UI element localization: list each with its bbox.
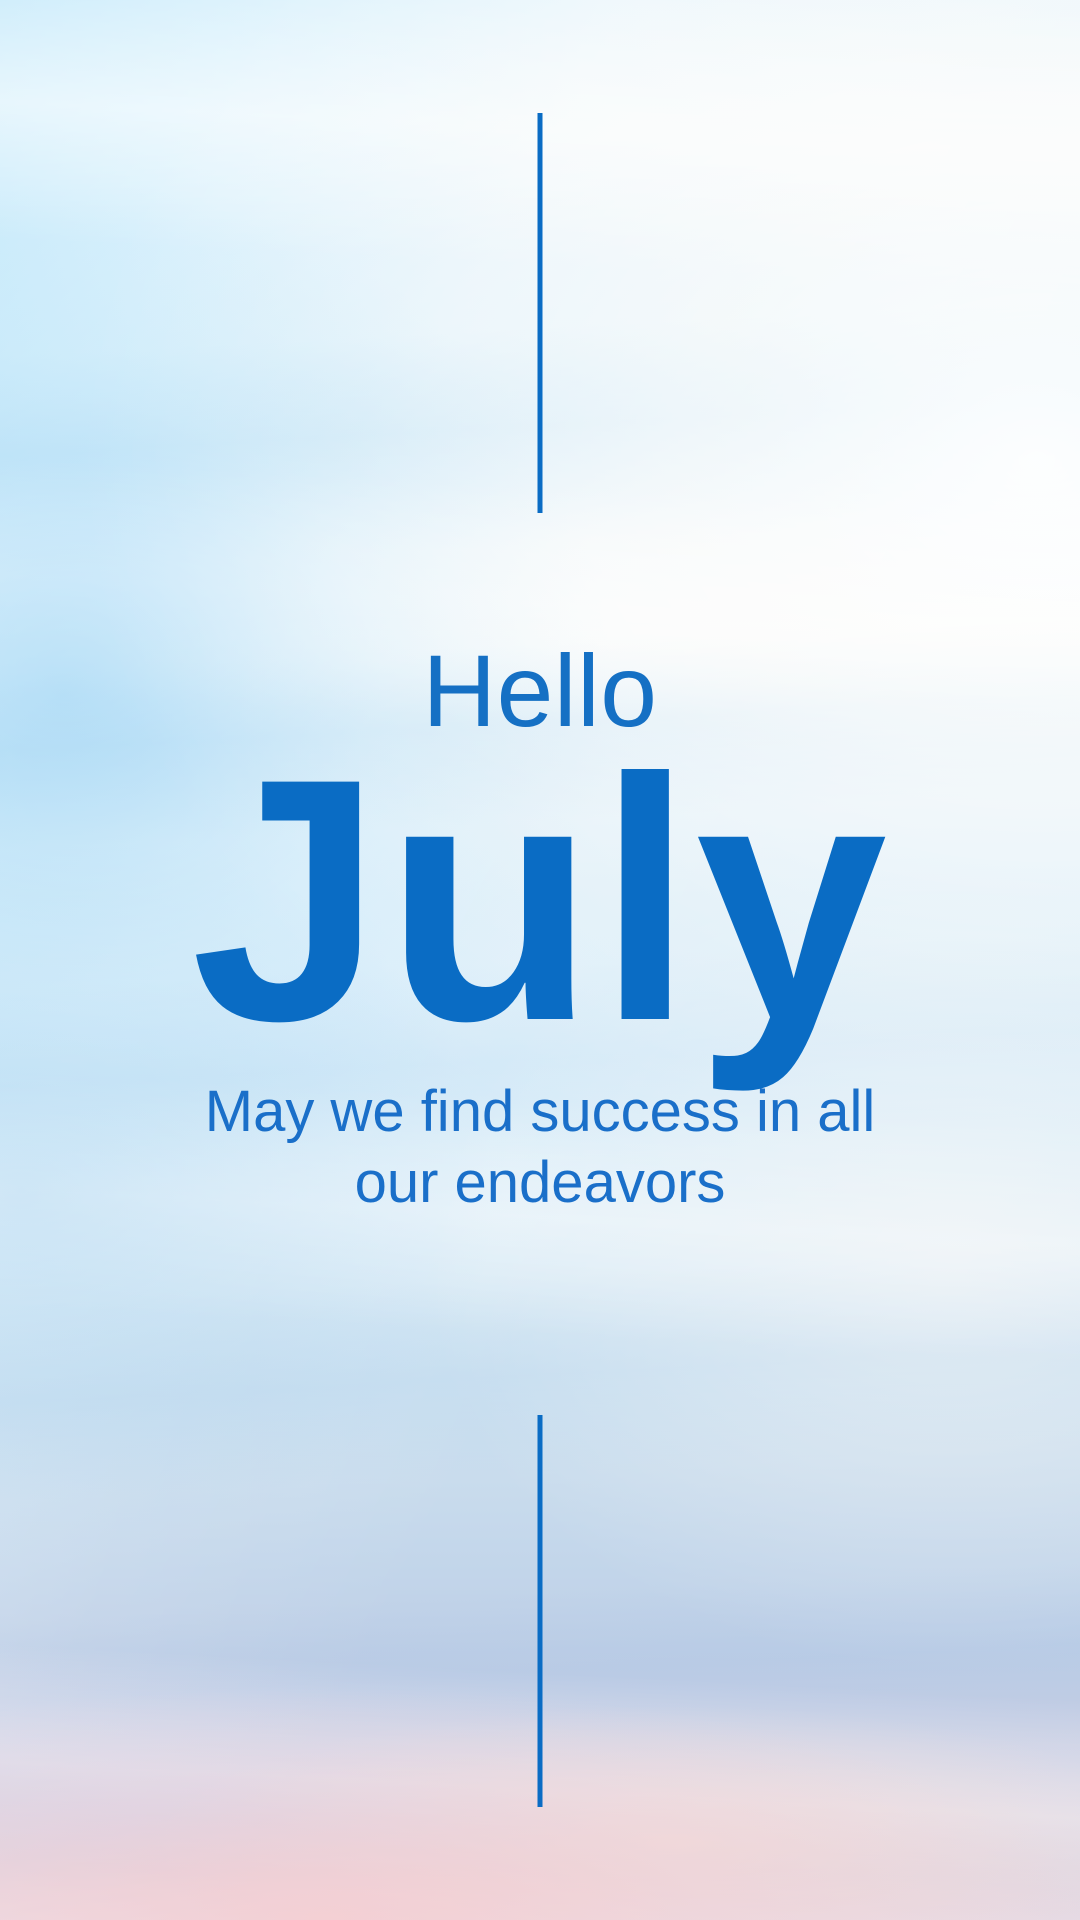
vertical-rule-bottom xyxy=(538,1415,543,1807)
tagline-line-2: our endeavors xyxy=(160,1148,920,1219)
month-title: July xyxy=(0,760,1080,1043)
tagline: May we find success in all our endeavors xyxy=(160,1077,920,1219)
text-stack: Hello July May we find success in all ou… xyxy=(0,640,1080,1218)
tagline-line-1: May we find success in all xyxy=(160,1077,920,1148)
poster-canvas: Hello July May we find success in all ou… xyxy=(0,0,1080,1920)
vertical-rule-top xyxy=(538,113,543,513)
